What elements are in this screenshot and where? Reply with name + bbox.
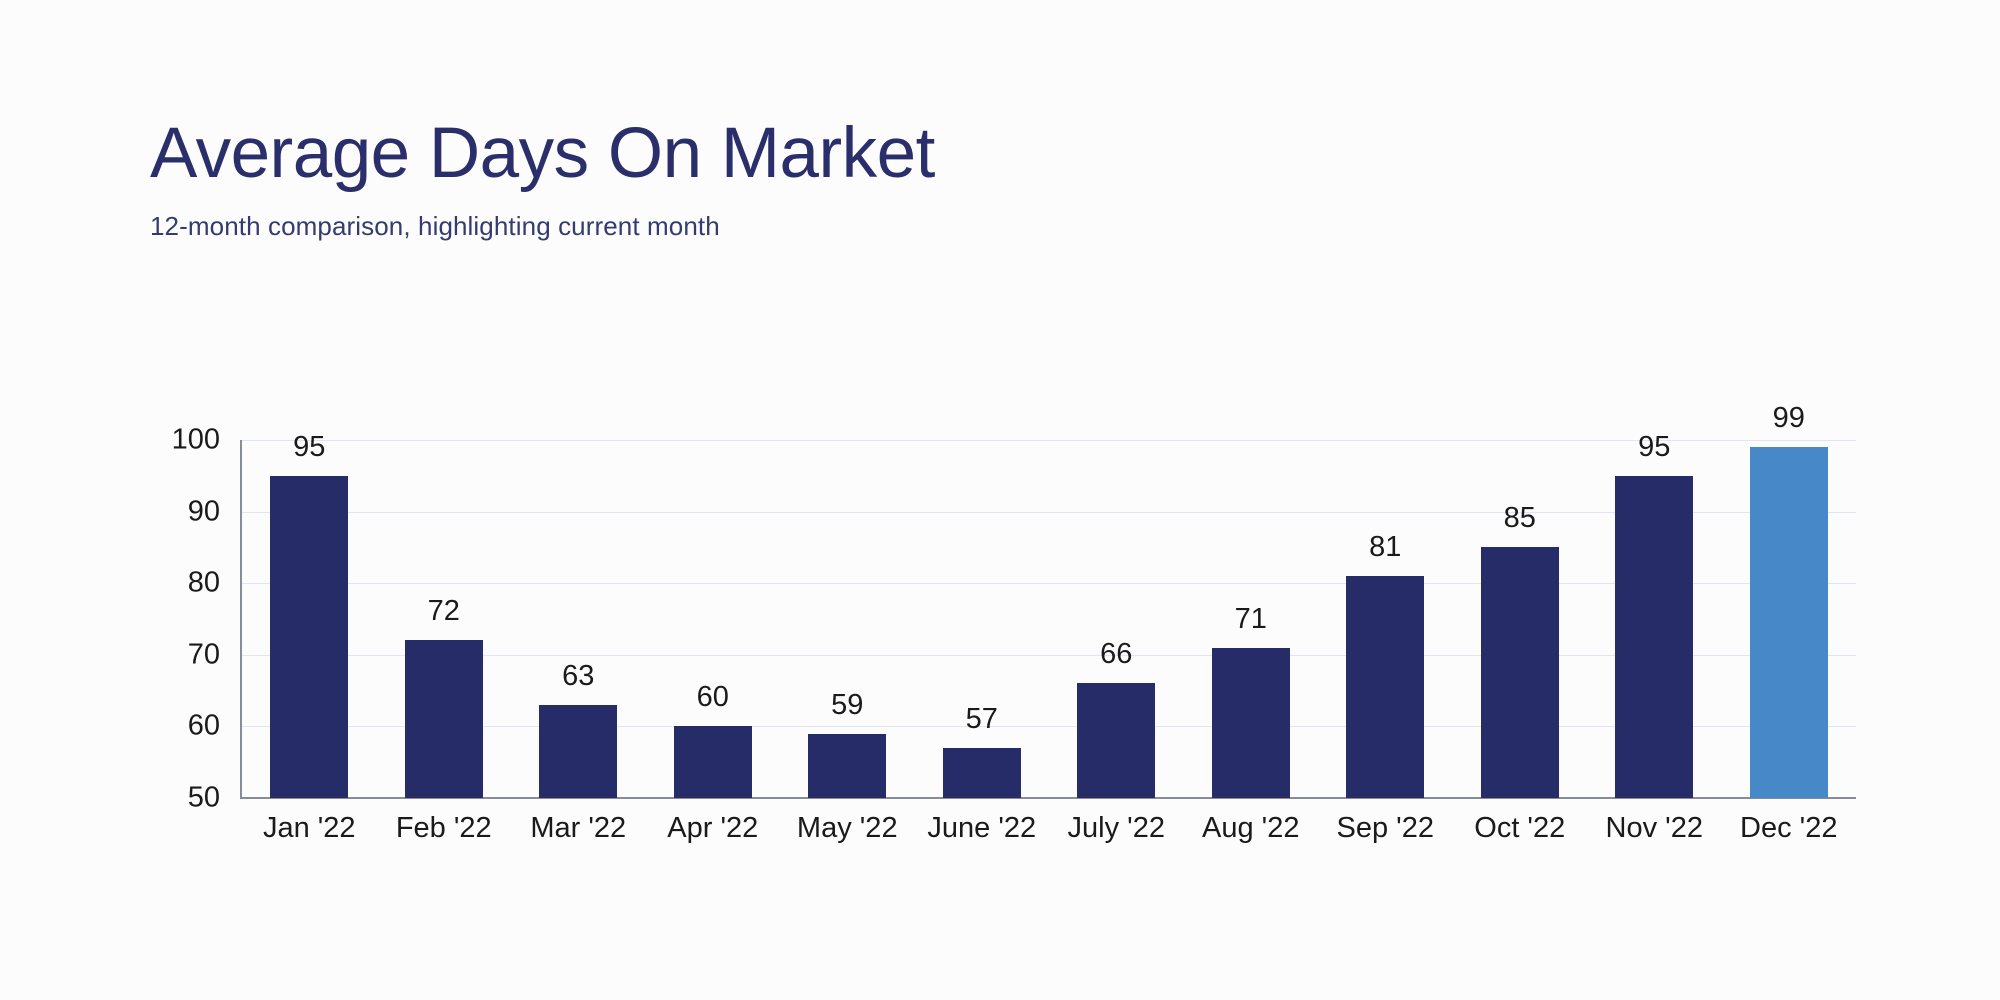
x-tick-label: Mar '22 bbox=[530, 812, 626, 845]
y-tick-label: 70 bbox=[120, 638, 220, 671]
bar[interactable] bbox=[1481, 547, 1559, 798]
x-tick-label: Nov '22 bbox=[1606, 812, 1703, 845]
x-tick-label: Dec '22 bbox=[1740, 812, 1837, 845]
bar-value-label: 85 bbox=[1504, 504, 1536, 533]
bar-group[interactable]: 99 bbox=[1722, 440, 1857, 798]
bar-value-label: 66 bbox=[1100, 640, 1132, 669]
bar-group[interactable]: 59 bbox=[780, 440, 915, 798]
bar-value-label: 60 bbox=[697, 683, 729, 712]
bar-group[interactable]: 63 bbox=[511, 440, 646, 798]
bar[interactable] bbox=[943, 748, 1021, 798]
bar-group[interactable]: 85 bbox=[1453, 440, 1588, 798]
bars-container: 957263605957667181859599 bbox=[242, 440, 1856, 798]
x-tick-label: Sep '22 bbox=[1337, 812, 1434, 845]
x-tick-label: Aug '22 bbox=[1202, 812, 1299, 845]
bar[interactable] bbox=[1077, 683, 1155, 798]
bar[interactable] bbox=[808, 734, 886, 798]
y-tick-label: 80 bbox=[120, 567, 220, 600]
chart-page: Average Days On Market 12-month comparis… bbox=[0, 0, 2000, 1000]
y-tick-label: 90 bbox=[120, 495, 220, 528]
bar-value-label: 95 bbox=[293, 433, 325, 462]
x-tick-label: June '22 bbox=[927, 812, 1036, 845]
bar[interactable] bbox=[405, 640, 483, 798]
bar-group[interactable]: 60 bbox=[646, 440, 781, 798]
x-tick-label: Feb '22 bbox=[396, 812, 492, 845]
bar-value-label: 72 bbox=[428, 597, 460, 626]
x-tick-label: Oct '22 bbox=[1474, 812, 1565, 845]
y-tick-label: 50 bbox=[120, 782, 220, 815]
bar[interactable] bbox=[1212, 648, 1290, 798]
bar-value-label: 99 bbox=[1773, 404, 1805, 433]
bar-group[interactable]: 81 bbox=[1318, 440, 1453, 798]
bar-chart: 1009080706050 957263605957667181859599 J… bbox=[0, 0, 2000, 1000]
bar-group[interactable]: 66 bbox=[1049, 440, 1184, 798]
y-tick-label: 100 bbox=[120, 424, 220, 457]
bar-group[interactable]: 95 bbox=[242, 440, 377, 798]
x-axis: Jan '22Feb '22Mar '22Apr '22May '22June … bbox=[242, 812, 1856, 856]
bar-value-label: 63 bbox=[562, 662, 594, 691]
x-tick-label: May '22 bbox=[797, 812, 898, 845]
bar-value-label: 71 bbox=[1235, 605, 1267, 634]
x-tick-label: Apr '22 bbox=[667, 812, 758, 845]
bar[interactable] bbox=[539, 705, 617, 798]
bar[interactable] bbox=[1346, 576, 1424, 798]
x-tick-label: July '22 bbox=[1068, 812, 1165, 845]
bar-group[interactable]: 95 bbox=[1587, 440, 1722, 798]
bar-value-label: 59 bbox=[831, 691, 863, 720]
bar[interactable] bbox=[270, 476, 348, 798]
bar-group[interactable]: 72 bbox=[377, 440, 512, 798]
bar-highlighted[interactable] bbox=[1750, 447, 1828, 798]
bar-value-label: 57 bbox=[966, 705, 998, 734]
y-axis: 1009080706050 bbox=[120, 440, 220, 798]
y-tick-label: 60 bbox=[120, 710, 220, 743]
bar-group[interactable]: 71 bbox=[1184, 440, 1319, 798]
x-tick-label: Jan '22 bbox=[263, 812, 356, 845]
bar-group[interactable]: 57 bbox=[915, 440, 1050, 798]
bar-value-label: 81 bbox=[1369, 533, 1401, 562]
bar-value-label: 95 bbox=[1638, 433, 1670, 462]
bar[interactable] bbox=[674, 726, 752, 798]
bar[interactable] bbox=[1615, 476, 1693, 798]
